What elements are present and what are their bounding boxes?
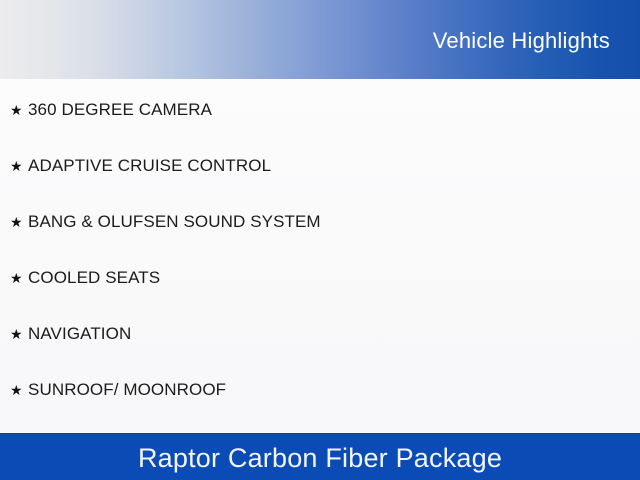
list-item-label: COOLED SEATS <box>28 267 160 289</box>
list-item-label: NAVIGATION <box>28 323 131 345</box>
list-item: ★ SUNROOF/ MOONROOF <box>10 379 226 401</box>
list-item-label: SUNROOF/ MOONROOF <box>28 379 226 401</box>
star-bullet-icon: ★ <box>10 267 28 289</box>
footer-banner: Raptor Carbon Fiber Package <box>0 433 640 480</box>
star-bullet-icon: ★ <box>10 99 28 121</box>
star-bullet-icon: ★ <box>10 323 28 345</box>
page-title: Vehicle Highlights <box>433 28 610 54</box>
list-item: ★ COOLED SEATS <box>10 267 160 289</box>
list-item: ★ ADAPTIVE CRUISE CONTROL <box>10 155 271 177</box>
package-name-label: Raptor Carbon Fiber Package <box>138 442 502 474</box>
list-item-label: ADAPTIVE CRUISE CONTROL <box>28 155 271 177</box>
vehicle-highlights-slide: Vehicle Highlights ★ 360 DEGREE CAMERA ★… <box>0 0 640 480</box>
list-item-label: 360 DEGREE CAMERA <box>28 99 212 121</box>
star-bullet-icon: ★ <box>10 155 28 177</box>
header-gradient-band: Vehicle Highlights <box>0 0 640 79</box>
list-item: ★ NAVIGATION <box>10 323 131 345</box>
list-item: ★ 360 DEGREE CAMERA <box>10 99 212 121</box>
vehicle-highlights-list: ★ 360 DEGREE CAMERA ★ ADAPTIVE CRUISE CO… <box>0 79 640 433</box>
list-item-label: BANG & OLUFSEN SOUND SYSTEM <box>28 211 321 233</box>
star-bullet-icon: ★ <box>10 211 28 233</box>
list-item: ★ BANG & OLUFSEN SOUND SYSTEM <box>10 211 321 233</box>
star-bullet-icon: ★ <box>10 379 28 401</box>
